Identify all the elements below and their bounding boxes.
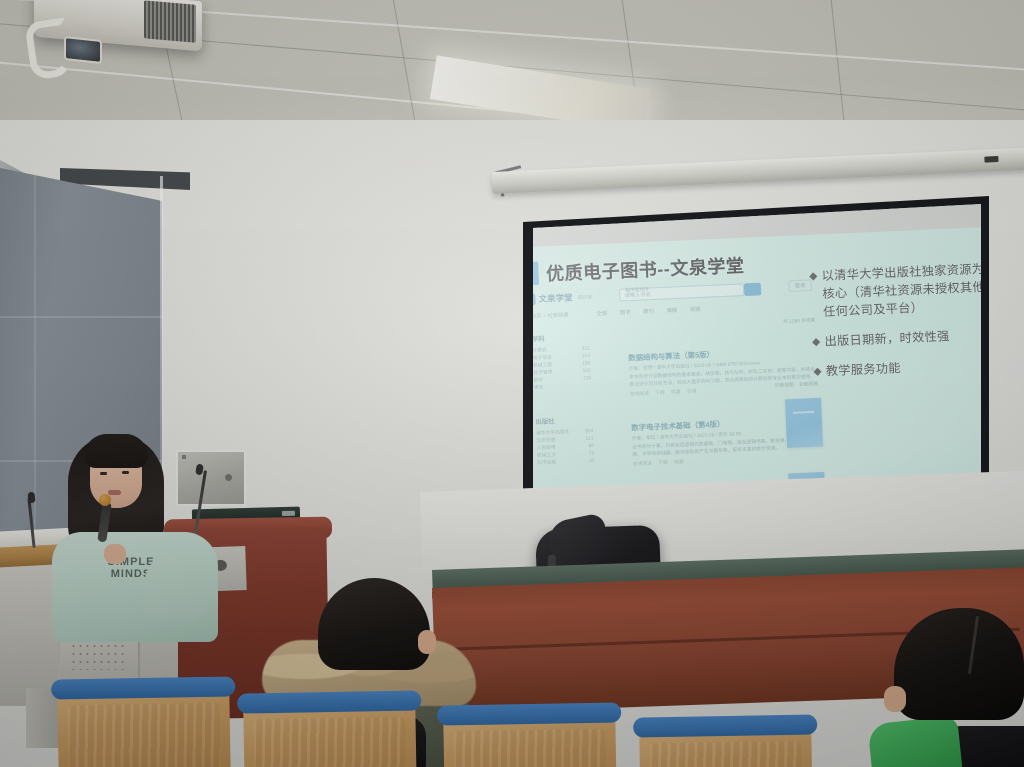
diamond-bullet-icon: ◆ (813, 364, 822, 380)
bullet-item: ◆ 以清华大学出版社独家资源为核心（清华社资源未授权其他任何公司及平台） (809, 261, 983, 323)
facet-publisher: 出版社 清华大学出版社 904 北京交通 121 人民邮电 86 机械工业 (535, 414, 594, 466)
nav-item-4[interactable]: 视频 (690, 305, 701, 313)
facet-count: 52 (589, 456, 595, 464)
diamond-bullet-icon: ◆ (809, 268, 818, 284)
presenter-eye-left (100, 472, 107, 475)
action-download[interactable]: 下载 (658, 460, 668, 467)
audience-ear (884, 686, 906, 712)
facet-row-more[interactable]: 更多 (534, 381, 592, 391)
action-read[interactable]: 在线阅读 (633, 460, 652, 467)
action-download[interactable]: 下载 (655, 390, 665, 397)
hair-part (968, 616, 979, 674)
category-nav[interactable]: 全部 图书 期刊 课程 视频 (596, 305, 700, 317)
audience-head (894, 608, 1024, 720)
auditorium-seat (57, 685, 231, 767)
account-login-button[interactable]: 登录 (788, 279, 812, 292)
logo-name: 文泉学堂 (538, 292, 572, 305)
bullet-text: 出版日期新，时效性强 (824, 328, 950, 351)
auditorium-seat (243, 699, 417, 767)
wenquan-logo: 文泉学堂 知识库 (531, 291, 592, 305)
facet-row[interactable]: 科学出版 52 (537, 456, 595, 466)
lecture-hall-photo: 优质电子图书--文泉学堂 文泉学堂 知识库 请输入书名 登录 首页 > 检索结果… (0, 0, 1024, 767)
facet-subject-heading: 学科 (532, 331, 590, 343)
nav-item-2[interactable]: 期刊 (643, 307, 654, 315)
action-favorite[interactable]: 收藏 (674, 459, 684, 466)
presenter-hand (104, 544, 126, 564)
result-item[interactable]: 数据结构与算法（第5版） 作者：张明 / 清华大学出版社 / 2023-06 /… (628, 345, 818, 398)
audience-front-right (878, 608, 1024, 767)
bullet-item: ◆ 教学服务功能 (813, 356, 983, 382)
presenter-fringe (84, 434, 148, 468)
facet-label: 更多 (534, 383, 544, 391)
sort-control[interactable]: 相关度排序 (625, 286, 649, 293)
auditorium-seat (639, 723, 813, 767)
presenter-mouth (108, 490, 121, 495)
audience-ear (418, 630, 436, 654)
audience-head (318, 578, 430, 670)
lectern-microphone-head (27, 492, 35, 504)
nav-item-0[interactable]: 全部 (596, 309, 607, 317)
slide-bullet-list: ◆ 以清华大学出版社独家资源为核心（清华社资源未授权其他任何公司及平台） ◆ 出… (809, 261, 983, 394)
bullet-item: ◆ 出版日期新，时效性强 (812, 326, 983, 352)
green-collar (867, 715, 962, 767)
seat-blue-trim (51, 676, 235, 699)
facet-count: 118 (583, 374, 591, 382)
nav-item-1[interactable]: 图书 (620, 308, 631, 316)
presenter-speaker: SIMPLE MINDS (48, 428, 228, 608)
logo-subtitle: 知识库 (578, 294, 593, 301)
monitor-button-icon[interactable] (282, 511, 295, 516)
diamond-bullet-icon: ◆ (812, 334, 821, 350)
facet-label: 科学出版 (537, 458, 556, 466)
bullet-text: 教学服务功能 (826, 360, 902, 381)
presenter-eye-right (122, 471, 129, 474)
projector-vent-grille (144, 0, 196, 43)
action-cite[interactable]: 引用 (687, 388, 697, 395)
microphone-windscreen-icon (99, 494, 111, 506)
nav-item-3[interactable]: 课程 (666, 306, 677, 314)
screen-roller-endcap (984, 156, 998, 163)
seat-blue-trim (237, 690, 421, 713)
seat-blue-trim (633, 714, 817, 737)
search-button[interactable] (744, 283, 761, 296)
auditorium-seat (443, 711, 617, 767)
book-cover-thumbnail[interactable] (785, 398, 823, 448)
breadcrumb: 首页 > 检索结果 (531, 311, 569, 320)
facet-subject: 学科 计算机 321 电子信息 214 机械工程 186 经济管理 (532, 331, 592, 391)
action-favorite[interactable]: 收藏 (671, 389, 681, 396)
action-read[interactable]: 在线阅读 (630, 390, 649, 397)
facet-publisher-heading: 出版社 (535, 414, 593, 426)
bullet-text: 以清华大学出版社独家资源为核心（清华社资源未授权其他任何公司及平台） (821, 261, 983, 323)
seat-blue-trim (437, 702, 621, 725)
